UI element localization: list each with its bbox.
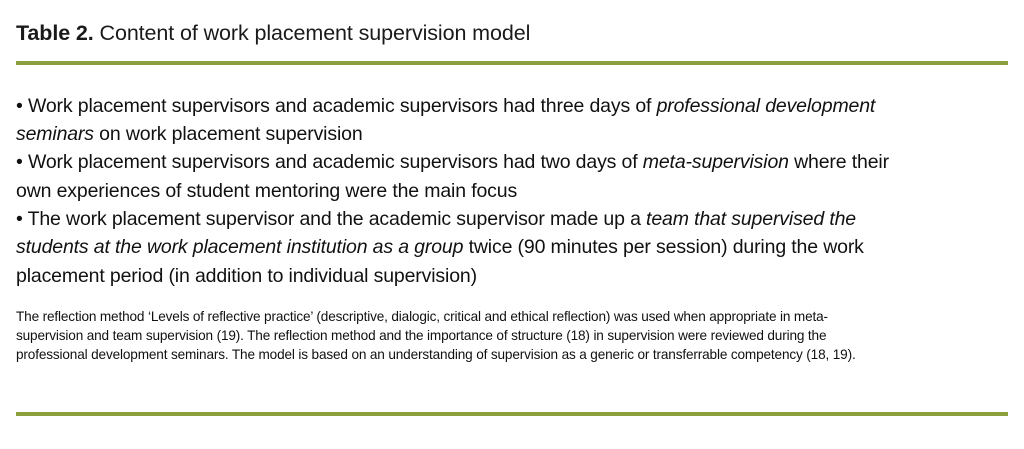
emphasis-text: students at the work placement instituti… bbox=[16, 236, 463, 258]
body-text: Work placement supervisors and academic … bbox=[28, 95, 657, 117]
body-text: on work placement supervision bbox=[94, 123, 363, 145]
emphasis-text: professional development bbox=[657, 95, 876, 117]
bullet-marker: • bbox=[16, 151, 28, 173]
bullet-item-3: • The work placement supervisor and the … bbox=[16, 205, 1008, 290]
bullet-marker: • bbox=[16, 208, 28, 230]
bullet-3-line-3: placement period (in addition to individ… bbox=[16, 262, 1008, 290]
bullet-item-1: • Work placement supervisors and academi… bbox=[16, 92, 1008, 149]
divider-bottom bbox=[16, 412, 1008, 416]
emphasis-text: meta-supervision bbox=[643, 151, 789, 173]
body-text: twice (90 minutes per session) during th… bbox=[463, 236, 863, 258]
body-text: own experiences of student mentoring wer… bbox=[16, 180, 517, 202]
footnote-line: The reflection method ‘Levels of reflect… bbox=[16, 307, 1008, 326]
bullet-2-line-2: own experiences of student mentoring wer… bbox=[16, 177, 1008, 205]
body-text: where their bbox=[789, 151, 889, 173]
bullet-2-line-1: • Work placement supervisors and academi… bbox=[16, 148, 1008, 176]
bullet-item-2: • Work placement supervisors and academi… bbox=[16, 148, 1008, 205]
bullet-1-line-2: seminars on work placement supervision bbox=[16, 120, 1008, 148]
body-text: Work placement supervisors and academic … bbox=[28, 151, 643, 173]
bullet-3-line-2: students at the work placement instituti… bbox=[16, 233, 1008, 261]
table-caption-box: Table 2. Content of work placement super… bbox=[0, 0, 1024, 449]
body-text: placement period (in addition to individ… bbox=[16, 265, 477, 287]
table-footnote: The reflection method ‘Levels of reflect… bbox=[16, 290, 1008, 365]
table-number-label: Table 2. bbox=[16, 21, 94, 45]
table-title-text: Content of work placement supervision mo… bbox=[94, 21, 531, 45]
bullet-1-line-1: • Work placement supervisors and academi… bbox=[16, 92, 1008, 120]
body-text: The work placement supervisor and the ac… bbox=[28, 208, 646, 230]
bullet-3-line-1: • The work placement supervisor and the … bbox=[16, 205, 1008, 233]
bullet-list: • Work placement supervisors and academi… bbox=[16, 65, 1008, 290]
page-title: Table 2. Content of work placement super… bbox=[16, 0, 1008, 47]
bullet-marker: • bbox=[16, 95, 28, 117]
footnote-line: professional development seminars. The m… bbox=[16, 345, 1008, 364]
footnote-line: supervision and team supervision (19). T… bbox=[16, 326, 1008, 345]
emphasis-text: team that supervised the bbox=[646, 208, 856, 230]
emphasis-text: seminars bbox=[16, 123, 94, 145]
